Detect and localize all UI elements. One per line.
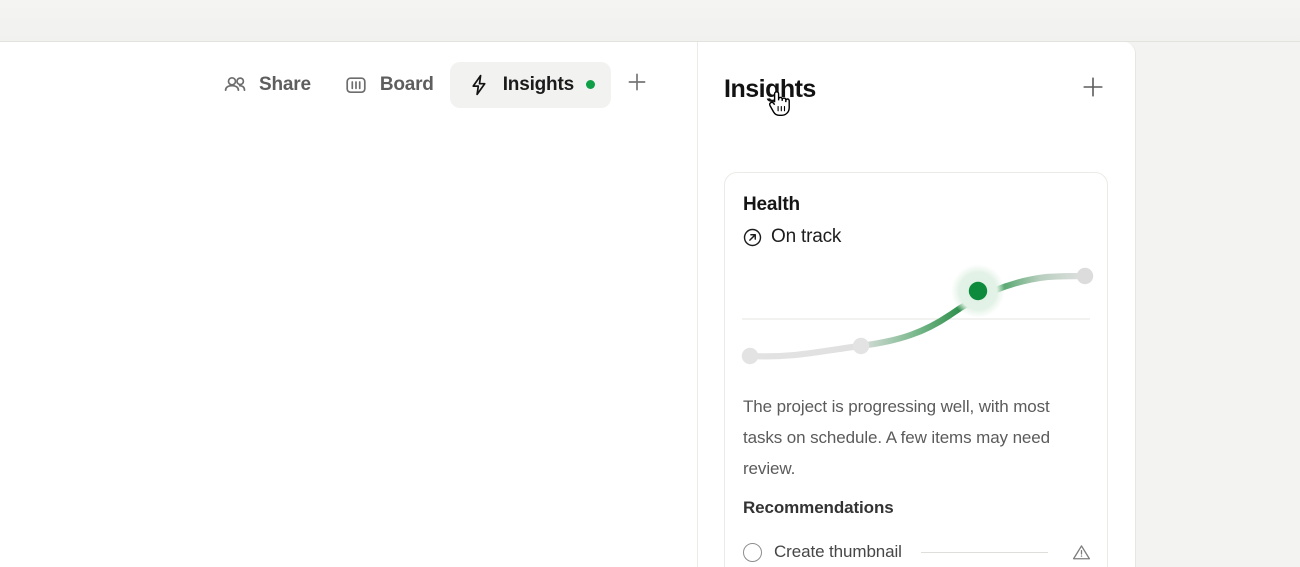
toolbar-item-insights-label: Insights [503,74,574,96]
plus-icon [1080,74,1106,105]
card-title: Health [743,193,1089,217]
panel-add-insight-button[interactable] [1074,71,1112,109]
toolbar-item-board-label: Board [380,74,434,96]
toolbar-item-board[interactable]: Board [327,62,450,108]
toolbar: Share Board Insights [0,42,658,127]
chart-point-1 [853,338,869,354]
window-chrome-bar [0,0,1300,42]
toolbar-item-share-label: Share [259,74,311,96]
main-content-region: Share Board Insights [0,42,698,567]
circle-unchecked-icon[interactable] [743,543,762,562]
warning-triangle-icon[interactable] [1071,542,1091,562]
lightning-bolt-icon [466,72,492,98]
card-summary-text: The project is progressing well, with mo… [743,391,1073,484]
status-badge: On track [771,226,841,248]
recommendations-list: Create thumbnail [743,536,1091,567]
users-icon [222,72,248,98]
page-title: Insights [724,75,816,104]
plus-icon [625,70,649,99]
insights-panel-header: Insights [699,42,1136,137]
chart-point-3 [1077,268,1093,284]
insights-status-dot [586,80,595,89]
recommendation-divider [921,552,1048,553]
sparkline-svg [725,259,1109,381]
recommendations-heading: Recommendations [743,498,894,518]
chart-point-0 [742,348,758,364]
board-columns-icon [343,72,369,98]
arrow-circle-up-right-icon [743,228,762,247]
app-window: Share Board Insights [0,42,1136,567]
recommendation-label: Create thumbnail [774,542,902,562]
toolbar-item-insights[interactable]: Insights [450,62,611,108]
chart-point-2 [969,282,987,300]
add-tab-button[interactable] [616,64,658,106]
list-item[interactable]: Create thumbnail [743,536,1091,567]
insights-panel: Insights Health On track [699,42,1136,567]
health-sparkline-chart [725,259,1109,381]
chart-line-series [750,276,1084,356]
toolbar-item-share[interactable]: Share [206,62,327,108]
card-status-row: On track [743,226,1089,248]
health-insight-card[interactable]: Health On track [724,172,1108,567]
